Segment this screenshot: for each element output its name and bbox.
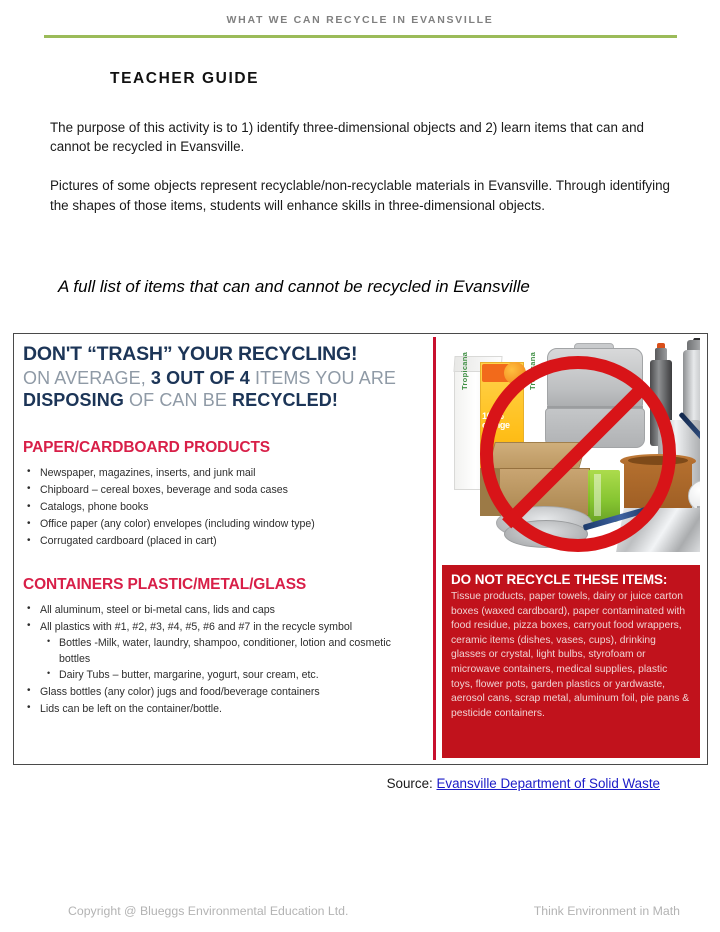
recycling-poster-image: DON'T “TRASH” YOUR RECYCLING! ON AVERAGE… bbox=[13, 333, 708, 765]
header-divider-rule bbox=[44, 35, 677, 38]
subhead-bold-2: DISPOSING bbox=[23, 390, 124, 410]
list-item: Corrugated cardboard (placed in cart) bbox=[23, 533, 423, 550]
list-item: Newspaper, magazines, inserts, and junk … bbox=[23, 465, 423, 482]
paper-products-list: Newspaper, magazines, inserts, and junk … bbox=[23, 465, 423, 551]
page-header: WHAT WE CAN RECYCLE IN EVANSVILLE bbox=[0, 0, 720, 38]
page-header-title: WHAT WE CAN RECYCLE IN EVANSVILLE bbox=[0, 14, 720, 26]
page-footer: Copyright @ Blueggs Environmental Educat… bbox=[0, 904, 720, 918]
source-label: Source: bbox=[387, 776, 437, 791]
source-line: Source: Evansville Department of Solid W… bbox=[0, 776, 660, 791]
containers-list: All aluminum, steel or bi-metal cans, li… bbox=[23, 602, 423, 718]
subhead-text-1: ON AVERAGE, bbox=[23, 368, 151, 388]
footer-tagline: Think Environment in Math bbox=[534, 904, 680, 918]
list-item: Glass bottles (any color) jugs and food/… bbox=[23, 684, 423, 701]
list-item-sub: Dairy Tubs – butter, margarine, yogurt, … bbox=[23, 668, 423, 684]
poster-left-column: DON'T “TRASH” YOUR RECYCLING! ON AVERAGE… bbox=[14, 334, 433, 764]
subhead-text-2: ITEMS YOU ARE bbox=[250, 368, 396, 388]
list-item: Lids can be left on the container/bottle… bbox=[23, 701, 423, 718]
poster-right-column: 100% orange Tropicana Tropicana bbox=[436, 334, 707, 764]
non-recyclable-items-collage: 100% orange Tropicana Tropicana bbox=[442, 338, 700, 560]
list-item-sub: Bottles -Milk, water, laundry, shampoo, … bbox=[23, 636, 423, 668]
subhead-text-3: OF CAN BE bbox=[124, 390, 232, 410]
intro-text-block: The purpose of this activity is to 1) id… bbox=[50, 118, 670, 216]
list-item: Chipboard – cereal boxes, beverage and s… bbox=[23, 482, 423, 499]
footer-copyright: Copyright @ Blueggs Environmental Educat… bbox=[68, 904, 348, 918]
do-not-recycle-title: DO NOT RECYCLE THESE ITEMS: bbox=[451, 572, 691, 587]
poster-headline: DON'T “TRASH” YOUR RECYCLING! bbox=[23, 344, 423, 366]
list-item: Catalogs, phone books bbox=[23, 499, 423, 516]
section-heading-containers: CONTAINERS PLASTIC/METAL/GLASS bbox=[23, 576, 423, 594]
subhead-bold-3: RECYCLED! bbox=[232, 390, 338, 410]
page-title: TEACHER GUIDE bbox=[110, 70, 720, 88]
paragraph-purpose: The purpose of this activity is to 1) id… bbox=[50, 118, 670, 157]
list-item: All aluminum, steel or bi-metal cans, li… bbox=[23, 602, 423, 619]
list-item: All plastics with #1, #2, #3, #4, #5, #6… bbox=[23, 619, 423, 636]
poster-subhead: ON AVERAGE, 3 OUT OF 4 ITEMS YOU ARE DIS… bbox=[23, 368, 423, 412]
juice-carton-side-text: Tropicana bbox=[460, 352, 469, 390]
list-item: Office paper (any color) envelopes (incl… bbox=[23, 516, 423, 533]
paragraph-pictures: Pictures of some objects represent recyc… bbox=[50, 176, 670, 215]
section-subtitle: A full list of items that can and cannot… bbox=[58, 277, 720, 297]
section-heading-paper: PAPER/CARDBOARD PRODUCTS bbox=[23, 439, 423, 457]
source-link[interactable]: Evansville Department of Solid Waste bbox=[436, 776, 660, 791]
do-not-recycle-panel: DO NOT RECYCLE THESE ITEMS: Tissue produ… bbox=[442, 565, 700, 758]
do-not-recycle-text: Tissue products, paper towels, dairy or … bbox=[451, 590, 691, 721]
subhead-bold-1: 3 OUT OF 4 bbox=[151, 368, 250, 388]
